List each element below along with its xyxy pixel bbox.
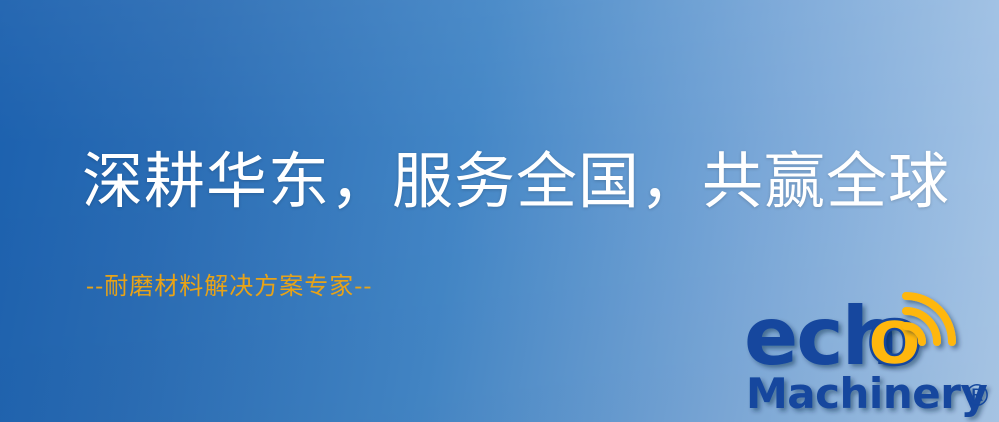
logo-registered-mark: ® xyxy=(962,379,992,414)
hero-banner: 深耕华东，服务全国，共赢全球 --耐磨材料解决方案专家-- ech o Mach… xyxy=(0,0,999,422)
logo-tagline: Machinery xyxy=(746,369,987,418)
echo-machinery-logo[interactable]: ech o Machinery ® xyxy=(744,296,996,418)
banner-headline: 深耕华东，服务全国，共赢全球 xyxy=(82,150,950,214)
banner-subtitle: --耐磨材料解决方案专家-- xyxy=(86,266,372,301)
